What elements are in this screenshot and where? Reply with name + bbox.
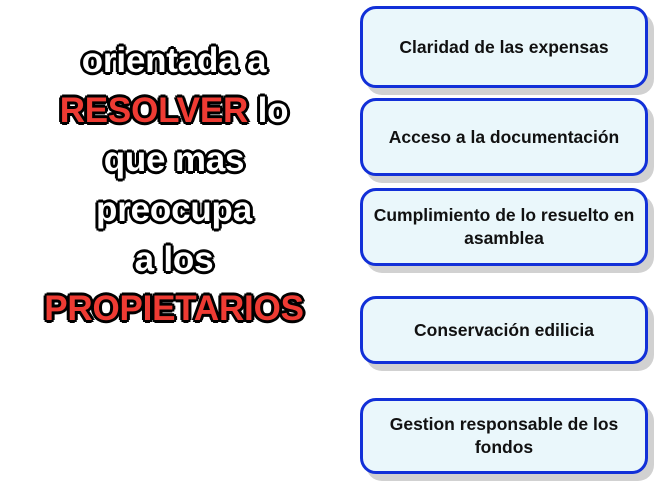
card-label: Cumplimiento de lo resuelto en asamblea	[373, 204, 635, 250]
card-label: Gestion responsable de los fondos	[373, 413, 635, 459]
headline-text-preocupa: preocupa	[96, 190, 252, 229]
card-label: Conservación edilicia	[414, 319, 594, 342]
headline-text-resolver: RESOLVER	[60, 91, 248, 130]
card-cumplimiento-asamblea: Cumplimiento de lo resuelto en asamblea	[360, 188, 648, 266]
headline-block: orientada a RESOLVER lo que mas preocupa…	[0, 36, 348, 334]
card-gestion-fondos: Gestion responsable de los fondos	[360, 398, 648, 474]
headline-text-a-los: a los	[135, 240, 214, 279]
card-label: Acceso a la documentación	[389, 126, 620, 149]
slide-root: orientada a RESOLVER lo que mas preocupa…	[0, 0, 662, 481]
headline-line-1: orientada a	[0, 36, 348, 86]
headline-text-que-mas: que mas	[104, 140, 245, 179]
headline-line-3: que mas	[0, 135, 348, 185]
headline-text-propietarios: PROPIETARIOS	[44, 289, 304, 328]
headline-text-orientada: orientada a	[82, 41, 267, 80]
card-label: Claridad de las expensas	[399, 36, 608, 59]
card-claridad-expensas: Claridad de las expensas	[360, 6, 648, 88]
card-acceso-documentacion: Acceso a la documentación	[360, 98, 648, 176]
headline-text-lo: lo	[248, 91, 288, 130]
card-column: Claridad de las expensas Acceso a la doc…	[352, 0, 662, 481]
headline-line-5: a los	[0, 235, 348, 285]
card-conservacion-edilicia: Conservación edilicia	[360, 296, 648, 364]
headline-line-4: preocupa	[0, 185, 348, 235]
headline-line-6: PROPIETARIOS	[0, 284, 348, 334]
headline-line-2: RESOLVER lo	[0, 86, 348, 136]
